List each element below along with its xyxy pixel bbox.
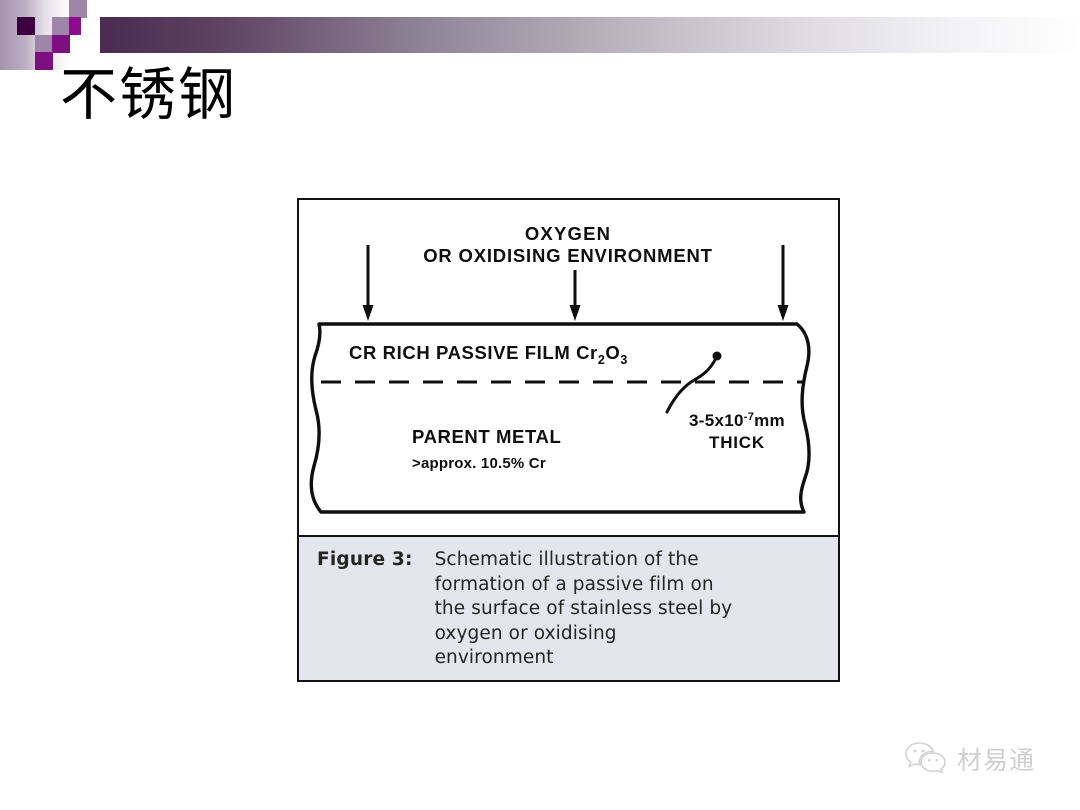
parent-metal-sublabel: >approx. 10.5% Cr: [412, 455, 546, 472]
square-mauve-low: [35, 35, 53, 53]
header-decoration-band: [0, 0, 1080, 70]
thickness-word: THICK: [709, 433, 765, 452]
figure-caption: Figure 3: Schematic illustration of the …: [299, 535, 838, 680]
wechat-icon: [905, 741, 947, 778]
square-magenta-top: [69, 17, 81, 35]
figure-caption-text: Schematic illustration of the formation …: [435, 548, 733, 680]
oxygen-arrow-right: [778, 245, 789, 321]
diagram-top-label-line2: OR OXIDISING ENVIRONMENT: [423, 245, 713, 266]
page-title: 不锈钢: [60, 63, 237, 129]
oxygen-arrow-left: [363, 245, 374, 321]
thickness-annotation: 3-5x10-7mm: [689, 411, 785, 430]
square-magenta-low: [35, 52, 53, 70]
figure-container: OXYGEN OR OXIDISING ENVIRONMENT CR RICH …: [297, 198, 840, 682]
parent-metal-label: PARENT METAL: [412, 426, 561, 447]
watermark-text: 材易通: [957, 741, 1035, 777]
square-mauve-top: [69, 0, 87, 18]
square-mauve-mid: [52, 17, 70, 35]
figure-diagram: OXYGEN OR OXIDISING ENVIRONMENT CR RICH …: [299, 200, 838, 535]
square-magenta-mid: [52, 35, 70, 53]
header-gradient-bar: [100, 17, 1080, 53]
passive-film-label: CR RICH PASSIVE FILM Cr2O3: [349, 342, 628, 367]
oxygen-arrow-center: [570, 270, 581, 321]
figure-caption-label: Figure 3:: [317, 548, 413, 680]
square-dark-plum: [17, 17, 35, 35]
watermark: 材易通: [905, 738, 1075, 780]
diagram-top-label-line1: OXYGEN: [525, 223, 611, 244]
